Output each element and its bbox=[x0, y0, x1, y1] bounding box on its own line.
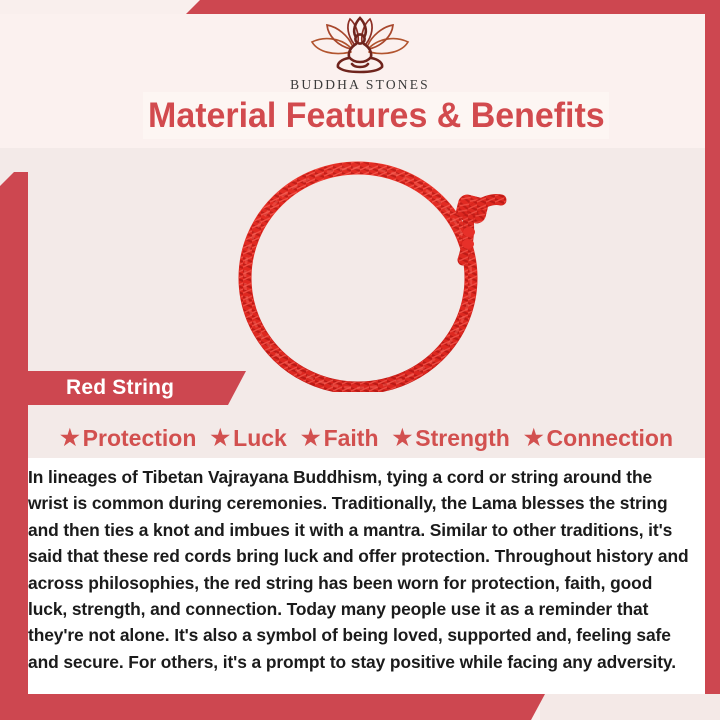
benefits-list: ★ Protection ★ Luck ★ Faith ★ Strength ★… bbox=[28, 420, 705, 456]
description-block: In lineages of Tibetan Vajrayana Buddhis… bbox=[28, 458, 705, 694]
star-icon: ★ bbox=[393, 427, 413, 449]
star-icon: ★ bbox=[60, 427, 80, 449]
benefit-item-strength: ★ Strength bbox=[386, 425, 517, 452]
benefit-label: Connection bbox=[547, 425, 674, 452]
brand-name: BUDDHA STONES bbox=[0, 77, 720, 93]
benefit-label: Strength bbox=[415, 425, 510, 452]
benefit-label: Luck bbox=[233, 425, 287, 452]
top-red-accent-bar bbox=[0, 0, 720, 14]
star-icon: ★ bbox=[524, 427, 544, 449]
left-red-accent-bar bbox=[0, 172, 28, 720]
star-icon: ★ bbox=[210, 427, 230, 449]
page-title: Material Features & Benefits bbox=[148, 96, 605, 136]
star-icon: ★ bbox=[301, 427, 321, 449]
brand-logo: BUDDHA STONES bbox=[0, 14, 720, 93]
benefit-label: Protection bbox=[83, 425, 197, 452]
description-text: In lineages of Tibetan Vajrayana Buddhis… bbox=[28, 464, 693, 675]
benefit-label: Faith bbox=[324, 425, 379, 452]
benefit-item-faith: ★ Faith bbox=[294, 425, 386, 452]
title-band: Material Features & Benefits bbox=[143, 92, 609, 139]
product-label-ribbon: Red String bbox=[28, 371, 246, 405]
bottom-right-light-block bbox=[540, 694, 720, 720]
benefit-item-protection: ★ Protection bbox=[53, 425, 203, 452]
infographic-page: BUDDHA STONES Material Features & Benefi… bbox=[0, 0, 720, 720]
right-red-accent-bar bbox=[705, 0, 720, 720]
red-braided-string-bracelet-icon bbox=[225, 152, 515, 392]
lotus-meditation-figure-icon bbox=[304, 16, 416, 76]
benefit-item-luck: ★ Luck bbox=[203, 425, 293, 452]
product-image bbox=[225, 152, 515, 392]
product-label: Red String bbox=[66, 376, 174, 400]
benefit-item-connection: ★ Connection bbox=[517, 425, 680, 452]
